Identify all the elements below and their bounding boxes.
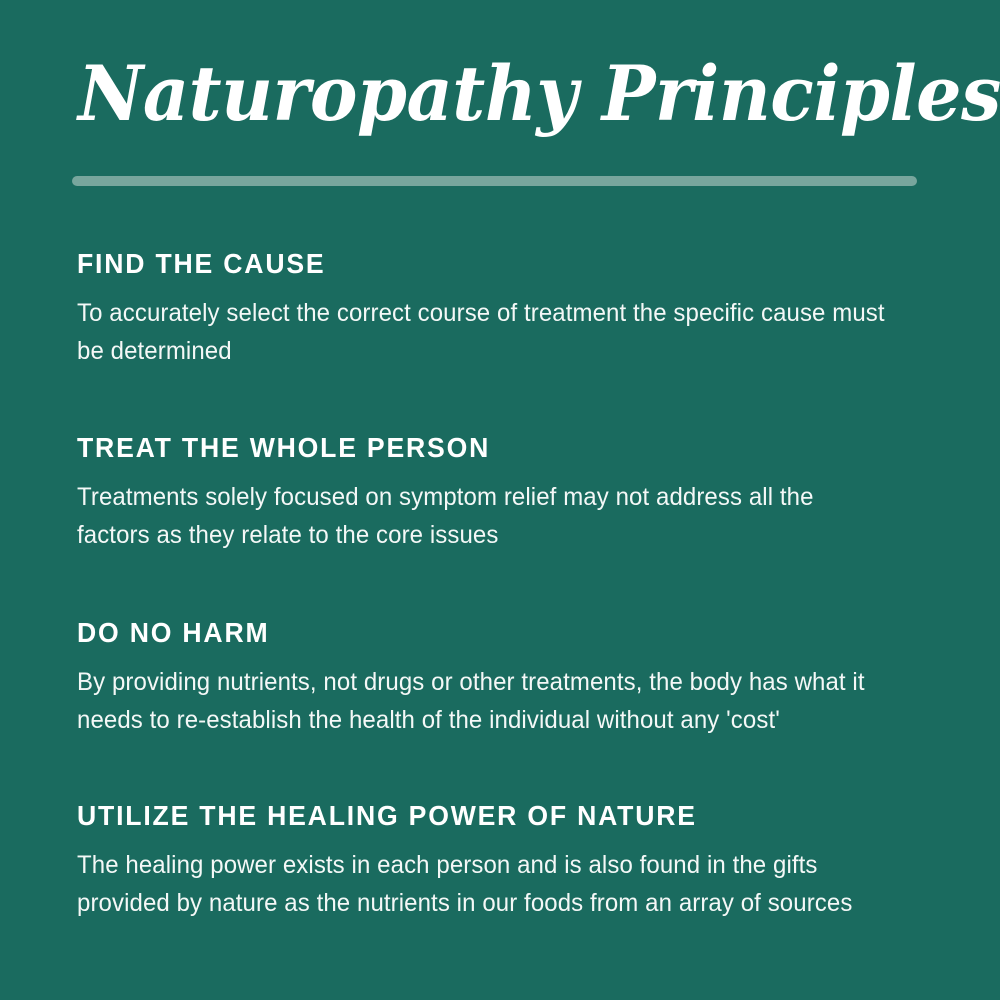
principle-body-utilize-the-healing-power-of-nature: The healing power exists in each person … xyxy=(77,846,891,922)
page-title: Naturopathy Principles xyxy=(78,52,1000,136)
list-item: FIND THE CAUSE To accurately select the … xyxy=(77,248,937,370)
list-item: UTILIZE THE HEALING POWER OF NATURE The … xyxy=(77,800,937,922)
title-block: Naturopathy Principles xyxy=(0,0,1000,200)
principle-heading-treat-the-whole-person: TREAT THE WHOLE PERSON xyxy=(77,432,894,464)
list-item: TREAT THE WHOLE PERSON Treatments solely… xyxy=(77,432,937,554)
title-divider xyxy=(72,176,917,186)
principle-body-find-the-cause: To accurately select the correct course … xyxy=(77,294,891,370)
naturopathy-principles-poster: Naturopathy Principles FIND THE CAUSE To… xyxy=(0,0,1000,1000)
principle-body-treat-the-whole-person: Treatments solely focused on symptom rel… xyxy=(77,478,891,554)
principle-heading-find-the-cause: FIND THE CAUSE xyxy=(77,248,894,280)
principle-heading-utilize-the-healing-power-of-nature: UTILIZE THE HEALING POWER OF NATURE xyxy=(77,800,894,832)
principle-heading-do-no-harm: DO NO HARM xyxy=(77,617,894,649)
list-item: DO NO HARM By providing nutrients, not d… xyxy=(77,617,937,739)
principle-body-do-no-harm: By providing nutrients, not drugs or oth… xyxy=(77,663,891,739)
